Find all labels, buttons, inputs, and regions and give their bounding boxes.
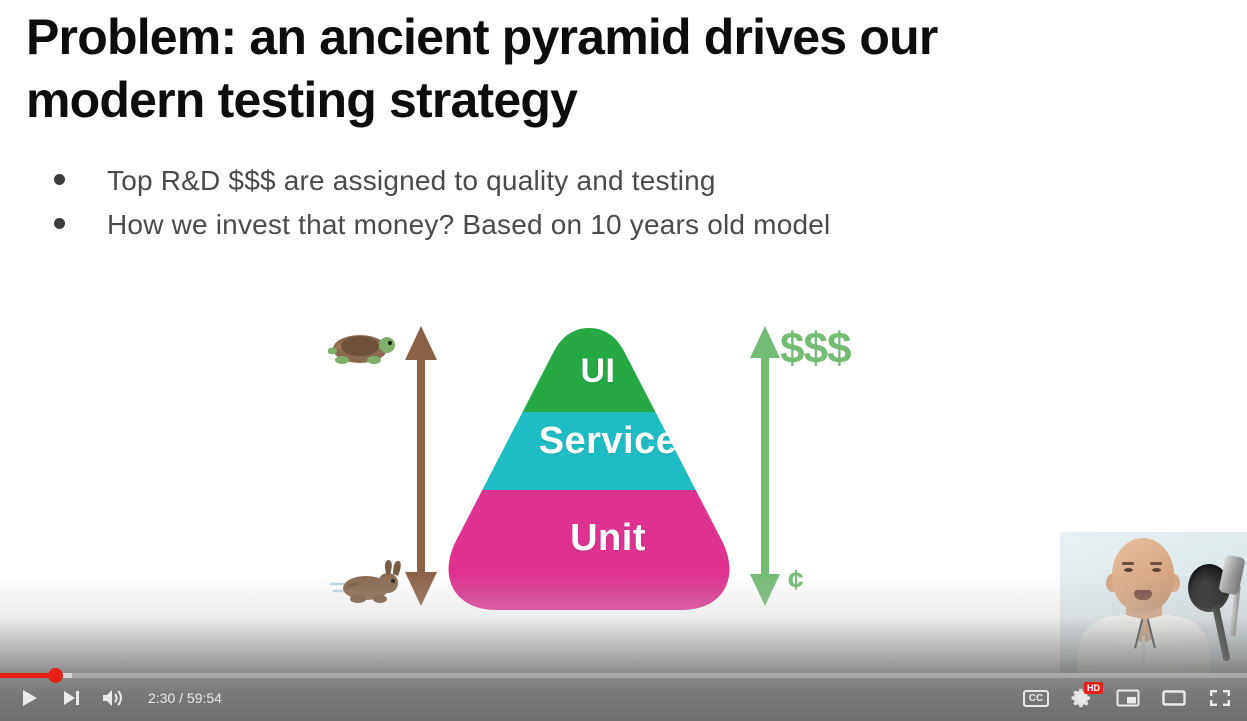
presenter-eye-right [1152, 568, 1161, 572]
progress-played [0, 673, 55, 678]
next-button[interactable] [52, 682, 90, 714]
presenter-head [1112, 538, 1174, 612]
hd-badge: HD [1084, 682, 1103, 694]
progress-scrubber-handle[interactable] [48, 668, 63, 683]
presenter-brow-right [1150, 562, 1162, 565]
turtle-icon [328, 324, 398, 368]
pyramid-label-ui: UI [538, 352, 658, 391]
closed-captions-icon: CC [1023, 690, 1049, 707]
fullscreen-button[interactable] [1201, 682, 1239, 714]
settings-button[interactable]: HD [1063, 682, 1101, 714]
page-title: Problem: an ancient pyramid drives our m… [26, 6, 1086, 132]
rabbit-icon [330, 558, 408, 604]
pyramid-label-service: Service [498, 420, 718, 463]
cost-label-low: ¢ [788, 564, 804, 596]
cost-axis-arrow [748, 326, 782, 606]
presenter-eye-left [1124, 568, 1133, 572]
bullet-point-icon [54, 218, 65, 229]
miniplayer-icon [1116, 688, 1140, 708]
subtitles-button[interactable]: CC [1017, 682, 1055, 714]
progress-bar[interactable] [0, 673, 1247, 678]
bullet-point-icon [54, 174, 65, 185]
miniplayer-button[interactable] [1109, 682, 1147, 714]
bullet-text: Top R&D $$$ are assigned to quality and … [107, 163, 716, 198]
presenter-brow-left [1122, 562, 1134, 565]
left-controls-group: 2:30 / 59:54 [10, 682, 222, 714]
bullet-list: Top R&D $$$ are assigned to quality and … [54, 163, 1054, 251]
presenter-video-overlay [1060, 532, 1247, 673]
theater-button[interactable] [1155, 682, 1193, 714]
next-video-icon [61, 688, 81, 708]
list-item: Top R&D $$$ are assigned to quality and … [54, 163, 1054, 198]
volume-button[interactable] [94, 682, 132, 714]
shirt-placket [1142, 636, 1145, 666]
right-controls-group: CC HD [1017, 682, 1239, 714]
bullet-text: How we invest that money? Based on 10 ye… [107, 207, 830, 242]
video-player-controls: 2:30 / 59:54 CC HD [0, 673, 1247, 721]
list-item: How we invest that money? Based on 10 ye… [54, 207, 1054, 242]
test-pyramid-diagram: UI Service Unit $$$ ¢ [318, 312, 878, 624]
pyramid-label-unit: Unit [518, 517, 698, 560]
volume-icon [101, 688, 125, 708]
cost-label-high: $$$ [780, 324, 850, 374]
play-icon [19, 688, 39, 708]
presenter-mouth [1134, 590, 1152, 600]
theater-mode-icon [1162, 688, 1186, 708]
time-display: 2:30 / 59:54 [148, 690, 222, 706]
fullscreen-icon [1209, 688, 1231, 708]
play-button[interactable] [10, 682, 48, 714]
